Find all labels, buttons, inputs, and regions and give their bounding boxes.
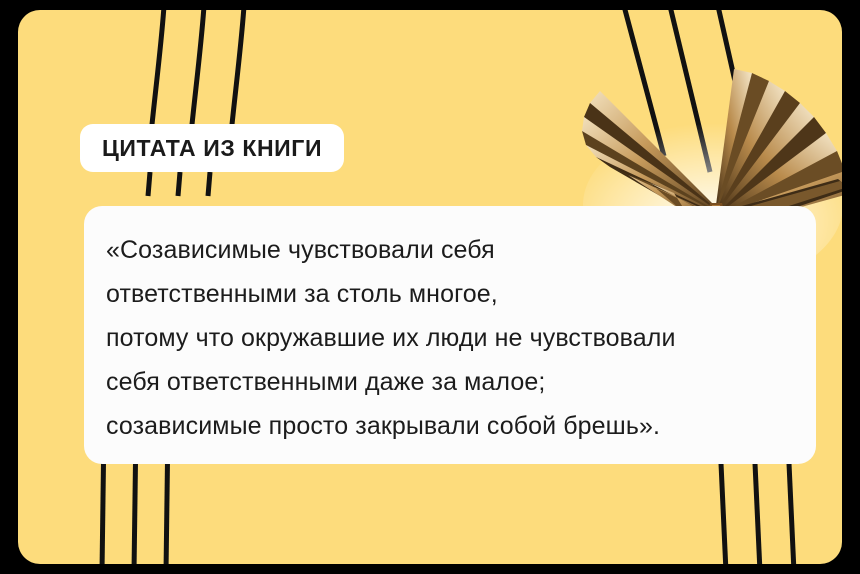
quote-source-badge: ЦИТАТА ИЗ КНИГИ xyxy=(80,124,344,172)
quote-card: ЦИТАТА ИЗ КНИГИ «Созависимые чувствовали… xyxy=(18,10,842,564)
stroke-top-right-1 xyxy=(624,10,664,156)
quote-line: себя ответственными даже за малое; xyxy=(106,360,798,404)
quote-line: потому что окружавшие их люди не чувство… xyxy=(106,316,798,360)
stroke-top-right-3 xyxy=(718,10,760,192)
stroke-top-right-2 xyxy=(670,10,710,172)
screenshot-canvas: ЦИТАТА ИЗ КНИГИ «Созависимые чувствовали… xyxy=(0,0,860,574)
stroke-mid-tick-2 xyxy=(178,172,180,196)
stroke-mid-tick-1 xyxy=(148,172,150,196)
quote-source-badge-label: ЦИТАТА ИЗ КНИГИ xyxy=(102,137,322,160)
quote-line: ответственными за столь многое, xyxy=(106,272,798,316)
quote-text-block: «Созависимые чувствовали себя ответствен… xyxy=(106,228,798,448)
book-pages-left xyxy=(582,91,714,225)
quote-line: созависимые просто закрывали собой брешь… xyxy=(106,404,798,448)
stroke-mid-tick-3 xyxy=(208,172,210,196)
book-pages-right xyxy=(716,69,842,222)
quote-panel: «Созависимые чувствовали себя ответствен… xyxy=(84,206,816,464)
quote-line: «Созависимые чувствовали себя xyxy=(106,228,798,272)
